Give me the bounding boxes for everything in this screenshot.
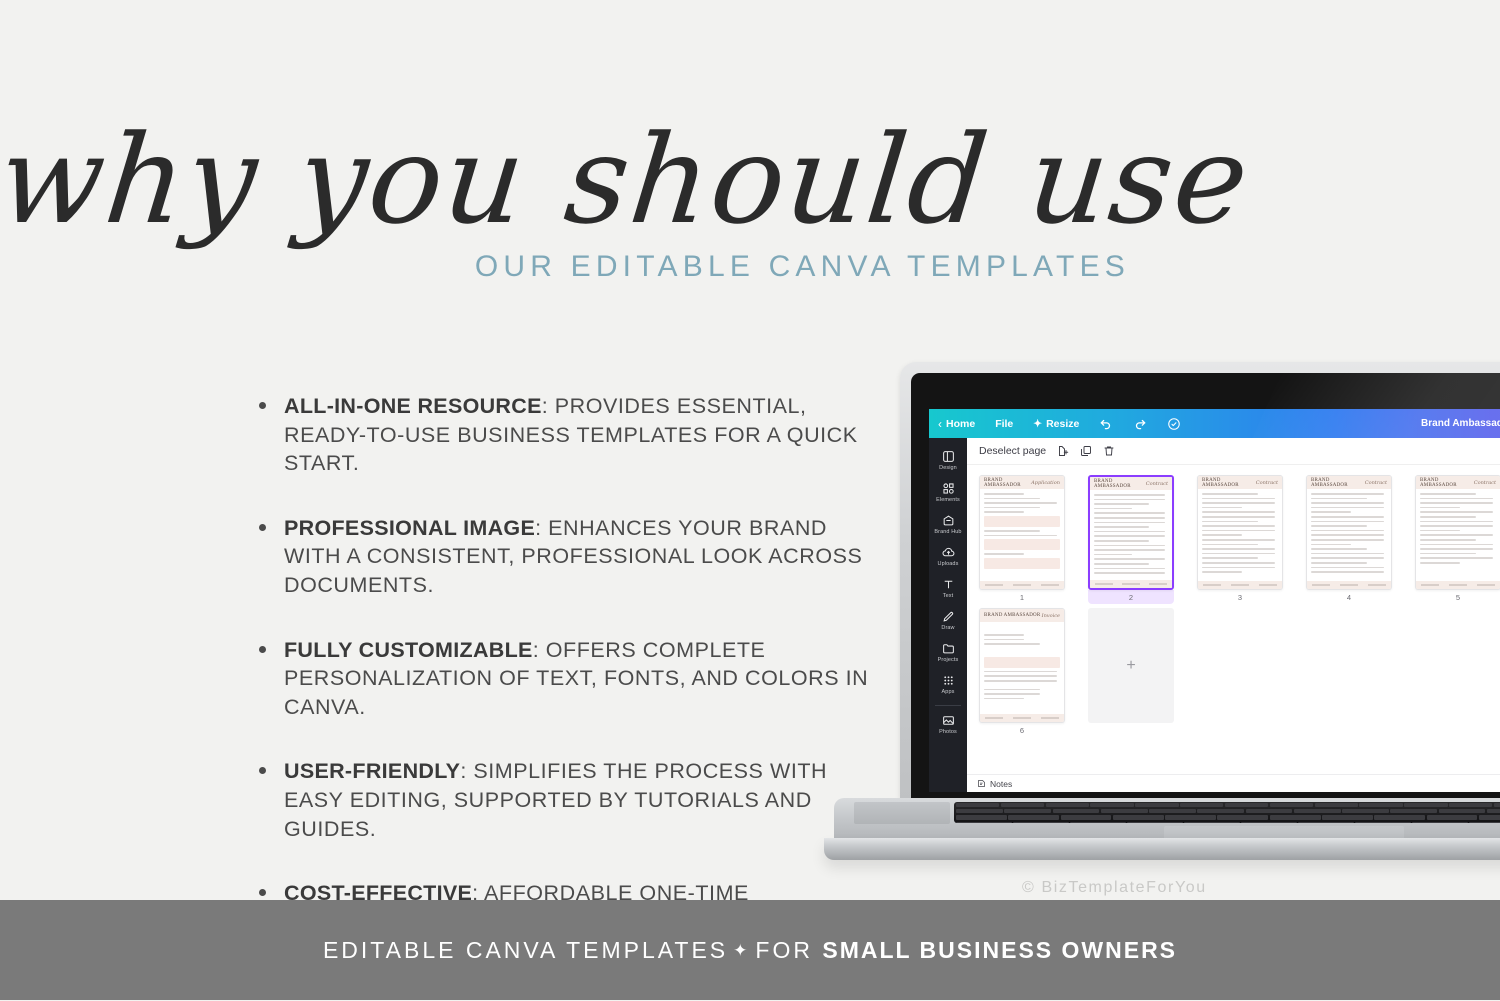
file-menu[interactable]: File — [995, 418, 1013, 430]
file-label: File — [995, 418, 1013, 430]
list-item: USER-FRIENDLY: SIMPLIFIES THE PROCESS WI… — [252, 757, 872, 843]
thumb-canvas: BRAND AMBASSADOR Contract — [1415, 475, 1500, 590]
thumb-footer — [1090, 580, 1172, 588]
redo-button[interactable] — [1133, 417, 1147, 431]
footer-emphasis: SMALL BUSINESS OWNERS — [822, 937, 1177, 963]
add-page-button[interactable]: + — [1088, 608, 1174, 723]
sidebar-label: Elements — [936, 497, 960, 503]
projects-icon — [942, 642, 955, 655]
thumb-body — [1198, 489, 1282, 580]
page-thumbnail[interactable]: BRAND AMBASSADOR Invoice — [979, 608, 1073, 737]
laptop-bezel: ‹ Home File ✦ Resize — [911, 373, 1500, 800]
thumb-canvas: BRAND AMBASSADOR Contract — [1088, 475, 1174, 590]
thumb-doc-title: BRAND AMBASSADOR — [1202, 478, 1256, 488]
page-thumbnail-grid: BRAND AMBASSADOR Application — [967, 465, 1500, 774]
thumb-canvas: BRAND AMBASSADOR Application — [979, 475, 1065, 590]
footer-bar: EDITABLE CANVA TEMPLATES✦FOR SMALL BUSIN… — [0, 900, 1500, 1000]
elements-icon — [942, 482, 955, 495]
thumb-doc-title: BRAND AMBASSADOR — [1094, 479, 1146, 489]
sidebar-item-text[interactable]: Text — [929, 572, 967, 604]
redo-icon — [1133, 417, 1147, 431]
apps-icon — [942, 674, 955, 687]
duplicate-page-icon[interactable] — [1080, 445, 1092, 457]
canva-statusbar: Notes Page 2 / 7 — [967, 774, 1500, 792]
laptop-deck — [834, 798, 1500, 838]
watermark-text: BizTemplateForYou — [1041, 879, 1206, 896]
thumb-footer — [1307, 581, 1391, 589]
sidebar-label: Draw — [941, 625, 954, 631]
home-label: Home — [946, 418, 975, 430]
footer-lead: EDITABLE CANVA TEMPLATES — [323, 937, 728, 963]
canva-topbar: ‹ Home File ✦ Resize — [929, 409, 1500, 438]
chevron-left-icon: ‹ — [938, 417, 942, 431]
laptop-lid: ‹ Home File ✦ Resize — [900, 362, 1500, 800]
sidebar-label: Brand Hub — [934, 529, 961, 535]
undo-icon — [1099, 417, 1113, 431]
page-number: 5 — [1415, 590, 1500, 604]
sidebar-label: Apps — [942, 689, 955, 695]
thumb-footer — [980, 714, 1064, 722]
brand-hub-icon — [942, 514, 955, 527]
watermark: © BizTemplateForYou — [1022, 879, 1207, 897]
footer-mid: FOR — [755, 937, 813, 963]
thumb-header: BRAND AMBASSADOR Contract — [1198, 476, 1282, 489]
thumb-script-title: Contract — [1474, 480, 1496, 486]
design-icon — [942, 450, 955, 463]
thumb-header: BRAND AMBASSADOR Contract — [1090, 477, 1172, 490]
text-icon — [942, 578, 955, 591]
page-number: 1 — [979, 590, 1065, 604]
thumb-canvas: BRAND AMBASSADOR Contract — [1197, 475, 1283, 590]
thumb-script-title: Contract — [1146, 481, 1168, 487]
hero-headline-wrap: why you should use — [0, 118, 1220, 242]
list-item: ALL-IN-ONE RESOURCE: PROVIDES ESSENTIAL,… — [252, 392, 872, 478]
undo-button[interactable] — [1099, 417, 1113, 431]
sidebar-item-uploads[interactable]: Uploads — [929, 540, 967, 572]
page-thumbnail[interactable]: BRAND AMBASSADOR Application — [979, 475, 1073, 604]
benefit-title: FULLY CUSTOMIZABLE — [284, 638, 533, 662]
canva-editor-screen: ‹ Home File ✦ Resize — [929, 409, 1500, 792]
thumb-doc-title: BRAND AMBASSADOR — [1420, 478, 1474, 488]
thumb-body — [1090, 490, 1172, 581]
list-item: PROFESSIONAL IMAGE: ENHANCES YOUR BRAND … — [252, 514, 872, 600]
thumb-footer — [1416, 581, 1500, 589]
copyright-icon: © — [1022, 879, 1035, 896]
notes-button[interactable]: Notes — [977, 779, 1012, 789]
sidebar-item-apps[interactable]: Apps — [929, 668, 967, 700]
sparkle-icon: ✦ — [1033, 418, 1042, 430]
benefit-title: ALL-IN-ONE RESOURCE — [284, 394, 542, 418]
page-thumbnail[interactable]: BRAND AMBASSADOR Contract — [1415, 475, 1500, 604]
sidebar-item-brand-hub[interactable]: Brand Hub — [929, 508, 967, 540]
sidebar-item-design[interactable]: Design — [929, 444, 967, 476]
thumb-script-title: Invoice — [1042, 613, 1060, 619]
thumb-doc-title: BRAND AMBASSADOR — [1311, 478, 1365, 488]
sidebar-item-photos[interactable]: Photos — [929, 708, 967, 740]
laptop-front-edge — [824, 838, 1500, 860]
sidebar-label: Projects — [938, 657, 959, 663]
thumb-body — [980, 622, 1064, 706]
uploads-icon — [942, 546, 955, 559]
diamond-icon: ✦ — [733, 941, 750, 960]
thumb-canvas: BRAND AMBASSADOR Invoice — [979, 608, 1065, 723]
laptop-base — [824, 798, 1500, 860]
sidebar-divider — [935, 705, 961, 706]
thumb-script-title: Contract — [1256, 480, 1278, 486]
page-number: 3 — [1197, 590, 1283, 604]
cloud-saved-icon — [1167, 417, 1181, 431]
sidebar-item-draw[interactable]: Draw — [929, 604, 967, 636]
notes-icon — [977, 779, 986, 788]
thumb-canvas: BRAND AMBASSADOR Contract — [1306, 475, 1392, 590]
home-button[interactable]: ‹ Home — [938, 417, 975, 431]
add-page-icon[interactable] — [1057, 445, 1069, 457]
page-toolbar: Deselect page — [967, 438, 1500, 465]
add-page-cell[interactable]: + — [1088, 608, 1182, 737]
speaker-grille — [854, 802, 950, 824]
thumb-body — [980, 489, 1064, 576]
sidebar-label: Design — [939, 465, 957, 471]
resize-label: Resize — [1046, 418, 1079, 430]
thumb-header: BRAND AMBASSADOR Application — [980, 476, 1064, 489]
canva-sidebar: Design Elements Brand Hub Uploads — [929, 438, 967, 792]
sidebar-label: Text — [943, 593, 954, 599]
page-thumbnail[interactable]: BRAND AMBASSADOR Contract — [1197, 475, 1291, 604]
thumb-body — [1307, 489, 1391, 580]
thumb-body — [1416, 489, 1500, 571]
page-number: 4 — [1306, 590, 1392, 604]
photos-icon — [942, 714, 955, 727]
canva-workspace: Deselect page BRAND AMBASSADOR Appli — [967, 438, 1500, 792]
keyboard — [954, 802, 1500, 823]
sidebar-item-elements[interactable]: Elements — [929, 476, 967, 508]
document-title: Brand Ambassador Contract Agre — [1421, 409, 1500, 438]
footer-text: EDITABLE CANVA TEMPLATES✦FOR SMALL BUSIN… — [323, 937, 1177, 964]
trash-icon[interactable] — [1103, 445, 1115, 457]
sidebar-label: Photos — [939, 729, 957, 735]
notes-label: Notes — [990, 779, 1012, 789]
benefit-title: PROFESSIONAL IMAGE — [284, 516, 535, 540]
thumb-header: BRAND AMBASSADOR Contract — [1416, 476, 1500, 489]
thumb-header: BRAND AMBASSADOR Contract — [1307, 476, 1391, 489]
thumb-footer — [1198, 581, 1282, 589]
page-thumbnail[interactable]: BRAND AMBASSADOR Contract — [1306, 475, 1400, 604]
canva-editor-body: Design Elements Brand Hub Uploads — [929, 438, 1500, 792]
hero-subtitle: OUR EDITABLE CANVA TEMPLATES — [0, 250, 1130, 284]
sidebar-label: Uploads — [938, 561, 959, 567]
thumb-script-title: Contract — [1365, 480, 1387, 486]
list-item: FULLY CUSTOMIZABLE: OFFERS COMPLETE PERS… — [252, 636, 872, 722]
page-thumbnail-selected[interactable]: BRAND AMBASSADOR Contract — [1088, 475, 1182, 604]
thumb-footer — [980, 581, 1064, 589]
page-title: why you should use — [0, 118, 1227, 242]
draw-icon — [942, 610, 955, 623]
benefit-title: USER-FRIENDLY — [284, 759, 460, 783]
page-number: 2 — [1088, 590, 1174, 604]
page-number: 6 — [979, 723, 1065, 737]
thumb-script-title: Application — [1031, 480, 1060, 486]
thumb-doc-title: BRAND AMBASSADOR — [984, 613, 1040, 618]
cloud-saved-button[interactable] — [1167, 417, 1181, 431]
laptop-mockup: ‹ Home File ✦ Resize — [824, 362, 1500, 872]
deselect-page-button[interactable]: Deselect page — [979, 445, 1046, 457]
sidebar-item-projects[interactable]: Projects — [929, 636, 967, 668]
thumb-header: BRAND AMBASSADOR Invoice — [980, 609, 1064, 622]
resize-button[interactable]: ✦ Resize — [1033, 418, 1079, 430]
thumb-doc-title: BRAND AMBASSADOR — [984, 478, 1031, 488]
